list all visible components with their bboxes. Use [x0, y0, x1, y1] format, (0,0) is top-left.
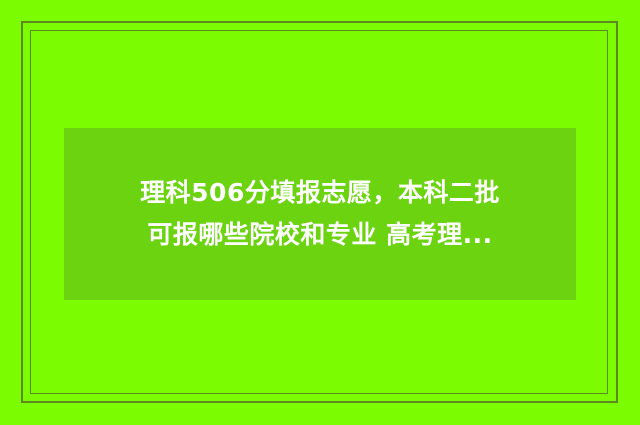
- caption-block: 理科506分填报志愿，本科二批 可报哪些院校和专业 高考理...: [64, 172, 576, 256]
- caption-overlay-panel: 理科506分填报志愿，本科二批 可报哪些院校和专业 高考理...: [64, 128, 576, 300]
- caption-line-1: 理科506分填报志愿，本科二批: [72, 172, 568, 214]
- caption-line-2: 可报哪些院校和专业 高考理...: [72, 214, 568, 256]
- image-placeholder-canvas: 理科506分填报志愿，本科二批 可报哪些院校和专业 高考理...: [0, 0, 640, 425]
